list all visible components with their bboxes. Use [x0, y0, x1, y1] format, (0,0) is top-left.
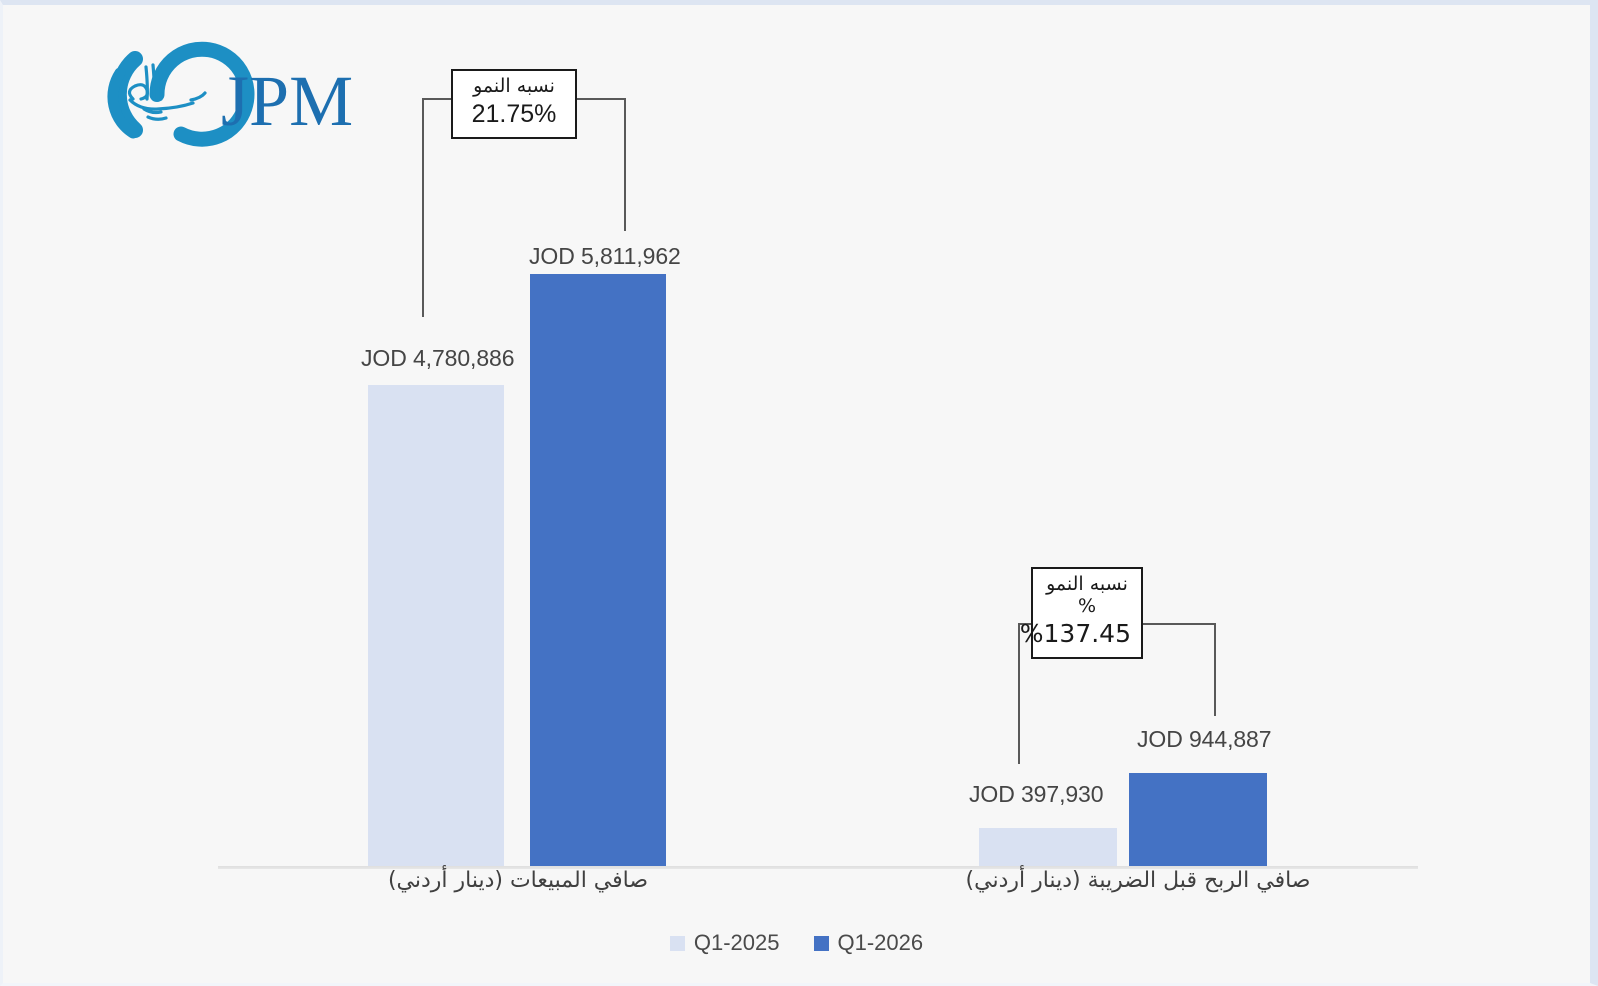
growth-callout-value-net-profit: %137.45	[1043, 619, 1131, 649]
legend-label-q1-2025: Q1-2025	[694, 930, 780, 956]
legend-label-q1-2026: Q1-2026	[838, 930, 924, 956]
growth-callout-net-profit: نسبه النمو % %137.45	[1031, 567, 1143, 659]
legend-swatch-icon-q1-2025	[670, 936, 685, 951]
growth-callout-title-net-profit: نسبه النمو %	[1043, 574, 1131, 618]
bar-chart-plot: JOD 4,780,886 JOD 5,811,962 صافي المبيعا…	[3, 5, 1598, 986]
growth-callout-value-net-sales: 21.75%	[463, 99, 565, 129]
growth-callout-title-net-sales: نسبه النمو	[463, 76, 565, 98]
legend-item-q1-2026[interactable]: Q1-2026	[814, 930, 924, 956]
legend-swatch-icon-q1-2026	[814, 936, 829, 951]
growth-bracket-net-profit	[3, 5, 1598, 986]
chart-legend: Q1-2025 Q1-2026	[3, 930, 1590, 956]
slide-canvas: JPM JOD 4,780,886 JOD 5,811,962 صافي الم…	[0, 0, 1598, 986]
legend-item-q1-2025[interactable]: Q1-2025	[670, 930, 780, 956]
growth-callout-net-sales: نسبه النمو 21.75%	[451, 69, 577, 139]
